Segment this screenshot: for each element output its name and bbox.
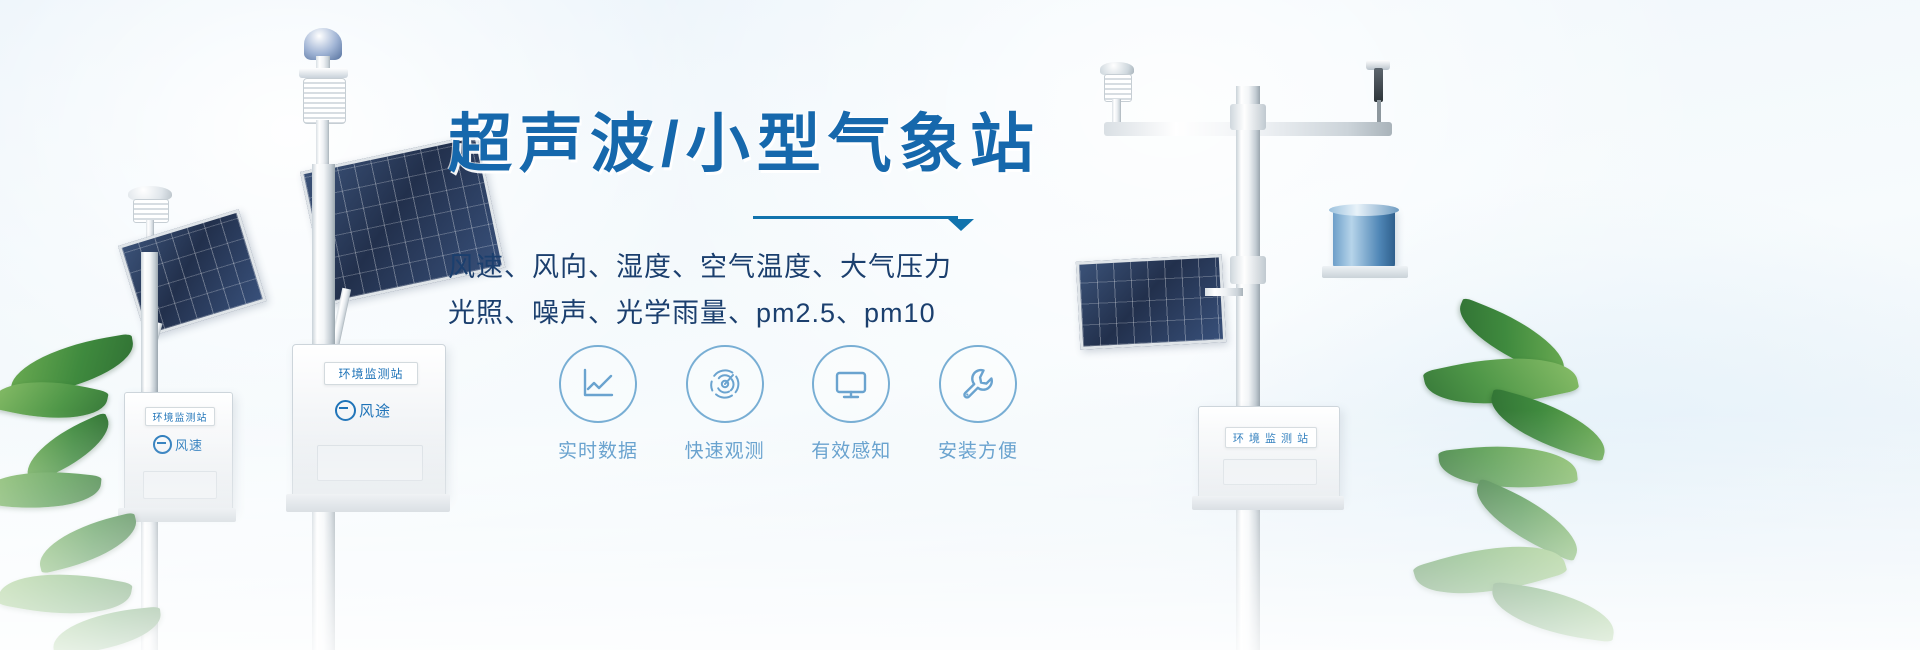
banner-copy: 超声波/小型气象站 风速、风向、湿度、空气温度、大气压力 光照、噪声、光学雨量、… [448,112,1028,335]
line-chart-icon [559,345,637,423]
anemometer-body [1374,68,1383,102]
feature-label: 安装方便 [938,436,1018,463]
right-sensor-fins [1104,74,1132,102]
feature-label: 有效感知 [811,436,891,463]
center-station-label: 环境监测站 [324,362,418,385]
mast-collar-mid [1230,256,1266,284]
feature-label: 实时数据 [558,436,638,463]
banner-subtitle-line-1: 风速、风向、湿度、空气温度、大气压力 [448,246,1028,290]
feature-item-realtime-data[interactable]: 实时数据 [548,345,648,463]
banner-headline: 超声波/小型气象站 [448,112,1028,176]
radar-scan-icon [686,345,764,423]
banner-subtitle-line-2: 光照、噪声、光学雨量、pm2.5、pm10 [448,292,1028,336]
rain-gauge-shelf [1322,266,1408,278]
headline-divider [448,216,1028,230]
feature-item-fast-observation[interactable]: 快速观测 [675,345,775,463]
feature-list: 实时数据 快速观测 [548,345,1028,463]
shield-stem [316,120,329,168]
rain-gauge-rim [1329,204,1399,216]
feature-item-easy-install[interactable]: 安装方便 [928,345,1028,463]
divider-triangle-icon [948,219,974,231]
divider-line [753,216,958,219]
ultrasonic-sensor-disc [299,68,348,78]
rain-gauge [1333,208,1395,270]
product-banner: 环境监测站 风速 环境监测站 风途 [0,0,1920,650]
monitor-icon [812,345,890,423]
feature-label: 快速观测 [685,436,765,463]
radiation-shield [303,78,346,124]
mast-collar-top [1230,104,1266,130]
wrench-icon [939,345,1017,423]
feature-item-effective-sensing[interactable]: 有效感知 [801,345,901,463]
right-solar-panel [1076,254,1226,350]
right-panel-arm [1205,288,1243,296]
